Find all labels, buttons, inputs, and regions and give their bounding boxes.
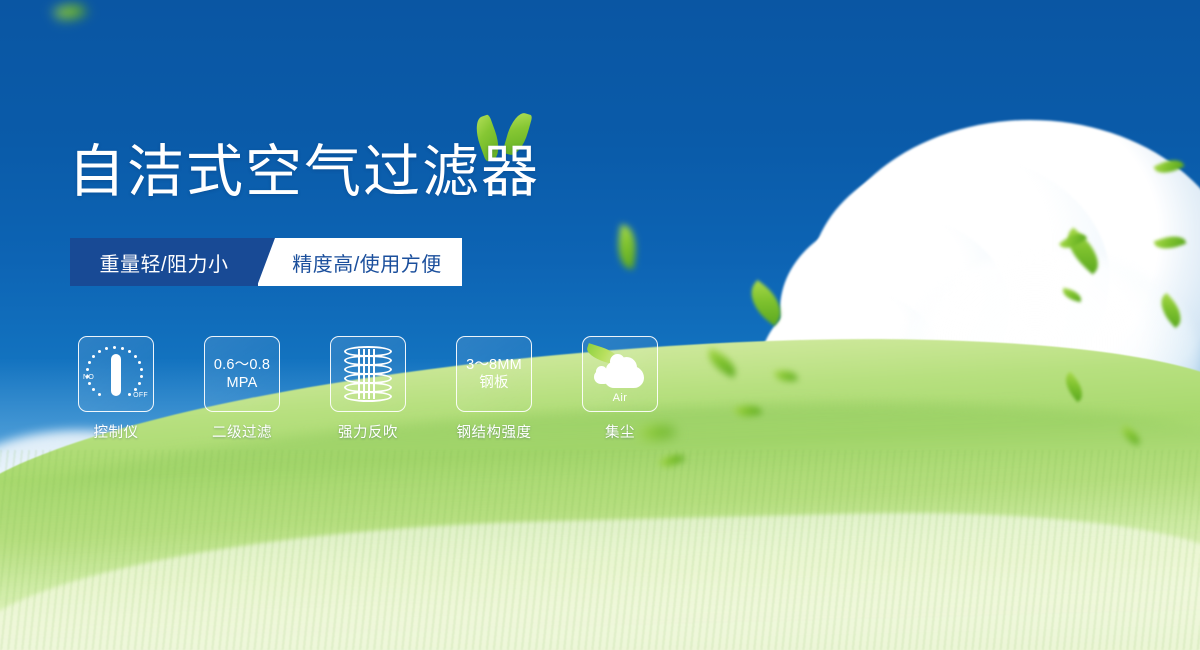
feature-icon-box: Air — [582, 336, 658, 412]
pressure-text-icon: 0.6～0.8 MPA — [214, 356, 270, 392]
feature-icon-box: 0.6～0.8 MPA — [204, 336, 280, 412]
grass-texture — [0, 450, 1200, 650]
feature-item-two-stage-filter[interactable]: 0.6～0.8 MPA 二级过滤 — [204, 336, 280, 442]
pressure-line-2: MPA — [214, 374, 270, 392]
air-cloud-icon: Air — [590, 346, 650, 402]
tagline-banner: 重量轻/阻力小 精度高/使用方便 — [70, 238, 462, 286]
product-banner: 自洁式空气过滤器 重量轻/阻力小 精度高/使用方便 — [0, 0, 1200, 650]
steel-line-1: 3～8MM — [466, 356, 522, 374]
feature-item-controller[interactable]: NO OFF 控制仪 — [78, 336, 154, 442]
feature-item-back-blow[interactable]: 强力反吹 — [330, 336, 406, 442]
feature-label: 钢结构强度 — [457, 421, 532, 442]
gauge-label-no: NO — [83, 374, 94, 381]
feature-item-dust-collection[interactable]: Air 集尘 — [582, 336, 658, 442]
feature-label: 控制仪 — [94, 421, 139, 442]
feature-label: 集尘 — [605, 421, 635, 442]
feature-item-steel-strength[interactable]: 3～8MM 钢板 钢结构强度 — [456, 336, 532, 442]
page-title: 自洁式空气过滤器 — [68, 144, 540, 201]
feature-list: NO OFF 控制仪 0.6～0.8 MPA 二级过滤 — [78, 336, 658, 442]
air-label: Air — [590, 392, 650, 404]
feature-icon-box: 3～8MM 钢板 — [456, 336, 532, 412]
feature-icon-box — [330, 336, 406, 412]
feature-label: 强力反吹 — [338, 421, 398, 442]
tagline-left: 重量轻/阻力小 — [70, 238, 258, 286]
feature-label: 二级过滤 — [212, 421, 272, 442]
cloud-small-icon — [596, 366, 607, 377]
gauge-needle-icon — [111, 354, 121, 396]
filter-cartridge-icon — [344, 346, 392, 402]
steel-plate-text-icon: 3～8MM 钢板 — [466, 356, 522, 392]
tagline-right: 精度高/使用方便 — [258, 238, 462, 286]
feature-icon-box: NO OFF — [78, 336, 154, 412]
steel-line-2: 钢板 — [466, 374, 522, 392]
gauge-label-off: OFF — [133, 392, 148, 399]
pressure-line-1: 0.6～0.8 — [214, 356, 270, 374]
gauge-icon: NO OFF — [83, 344, 149, 404]
